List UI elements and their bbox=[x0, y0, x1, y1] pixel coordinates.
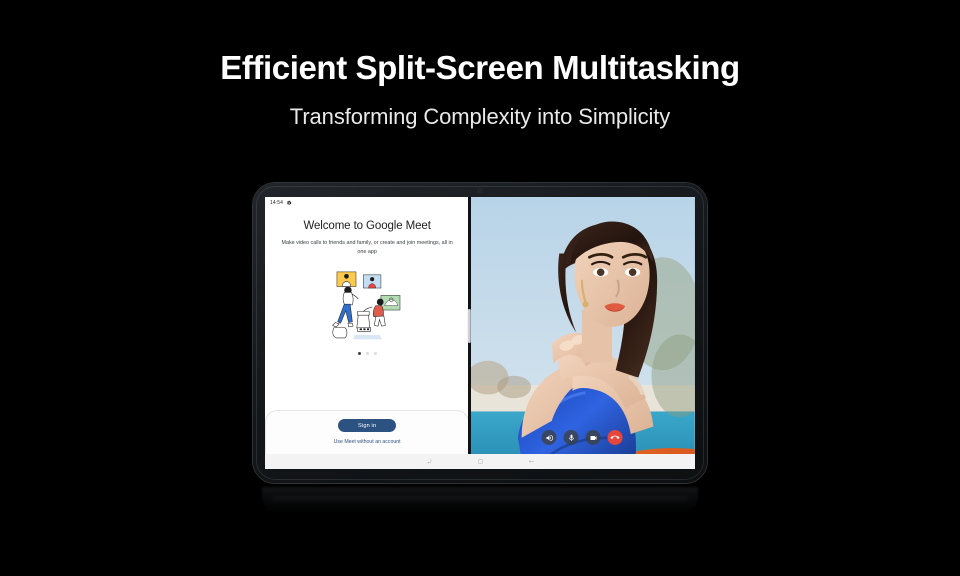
tablet-device: 14:54 Welcome to Google Meet Make video … bbox=[253, 183, 707, 483]
end-call-button[interactable] bbox=[608, 430, 623, 445]
speaker-button[interactable] bbox=[542, 430, 557, 445]
recents-icon[interactable] bbox=[527, 457, 536, 466]
status-bar: 14:54 bbox=[265, 197, 469, 209]
gear-icon bbox=[286, 200, 292, 206]
pager-dot-1[interactable] bbox=[358, 352, 361, 355]
back-icon[interactable] bbox=[425, 457, 434, 466]
page-subtitle: Transforming Complexity into Simplicity bbox=[0, 104, 960, 130]
call-controls bbox=[542, 430, 623, 445]
sign-in-button[interactable]: Sign in bbox=[338, 419, 396, 432]
pane-google-meet: 14:54 Welcome to Google Meet Make video … bbox=[265, 197, 469, 454]
status-bar-time: 14:54 bbox=[270, 200, 283, 206]
sign-in-card: Sign in Use Meet without an account bbox=[265, 410, 469, 454]
device-reflection-highlight bbox=[272, 497, 688, 502]
device-screen: 14:54 Welcome to Google Meet Make video … bbox=[265, 197, 695, 469]
home-icon[interactable] bbox=[476, 457, 485, 466]
pane-video-call bbox=[469, 197, 695, 454]
meet-content: Welcome to Google Meet Make video calls … bbox=[265, 209, 469, 410]
device-frame: 14:54 Welcome to Google Meet Make video … bbox=[253, 183, 707, 483]
meet-illustration bbox=[312, 267, 422, 345]
pager-dot-3[interactable] bbox=[374, 352, 377, 355]
pager-dot-2[interactable] bbox=[366, 352, 369, 355]
meet-description: Make video calls to friends and family, … bbox=[281, 239, 453, 258]
front-camera-icon bbox=[479, 189, 482, 192]
meet-welcome-title: Welcome to Google Meet bbox=[303, 220, 430, 232]
hero-headings: Efficient Split-Screen Multitasking Tran… bbox=[0, 0, 960, 130]
use-without-account-link[interactable]: Use Meet without an account bbox=[334, 439, 401, 445]
split-screen-divider-handle[interactable] bbox=[468, 309, 471, 343]
android-navigation-bar bbox=[265, 454, 695, 469]
split-screen-panes: 14:54 Welcome to Google Meet Make video … bbox=[265, 197, 695, 454]
camera-button[interactable] bbox=[586, 430, 601, 445]
page-title: Efficient Split-Screen Multitasking bbox=[0, 48, 960, 88]
onboarding-pager[interactable] bbox=[358, 352, 377, 355]
microphone-button[interactable] bbox=[564, 430, 579, 445]
video-call-photo bbox=[469, 197, 695, 454]
